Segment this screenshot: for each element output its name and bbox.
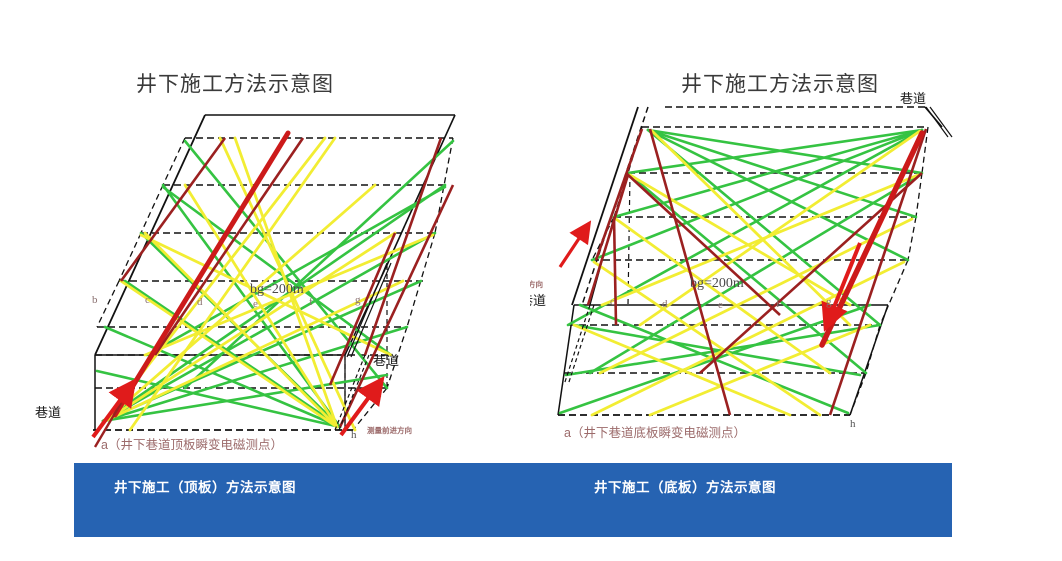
point-label-d-roof: d [197, 296, 203, 308]
point-label-e-roof: e [253, 298, 258, 310]
point-label-c-floor: c [610, 296, 615, 308]
direction-label-floor: 测量前进方向 [530, 279, 543, 289]
tunnel-label-right-roof: 巷道 [373, 353, 399, 368]
tunnel-label-left-floor: 巷道 [530, 293, 546, 308]
diagram-floor: 井下施工方法示意图 [530, 55, 1030, 450]
point-label-h-floor: h [850, 418, 856, 430]
point-label-e-floor: e [718, 299, 723, 311]
slide-canvas: 井下施工方法示意图 [0, 0, 1062, 561]
caption-bar: 井下施工（顶板）方法示意图 井下施工（底板）方法示意图 [74, 463, 952, 537]
point-label-f-floor: f [776, 298, 780, 310]
direction-label-roof: 测量前进方向 [367, 425, 412, 435]
arrow-left-floor [560, 231, 584, 267]
tunnel-label-top-floor: 巷道 [900, 91, 926, 106]
bottom-caption-floor: a（井下巷道底板瞬变电磁测点） [564, 425, 746, 440]
point-label-h-roof: h [351, 429, 357, 441]
caption-roof-label: 井下施工（顶板）方法示意图 [114, 476, 296, 496]
diagram-title: 井下施工方法示意图 [681, 72, 879, 96]
tunnel-label-left-roof: 巷道 [35, 405, 61, 420]
point-label-g-roof: g [355, 294, 361, 306]
point-label-b-roof: b [92, 294, 98, 306]
point-label-d-floor: d [662, 298, 668, 310]
diagram-roof: 井下施工方法示意图 [35, 55, 535, 450]
point-label-f-roof: f [309, 296, 313, 308]
bg-label-roof: bg=200m [250, 282, 304, 297]
diagram-title: 井下施工方法示意图 [136, 72, 334, 96]
point-label-g-floor: g [826, 296, 832, 308]
point-label-c-roof: c [145, 294, 150, 306]
bg-label-floor: bg=200m [690, 276, 744, 291]
bottom-caption-roof: a（井下巷道顶板瞬变电磁测点） [101, 437, 283, 450]
caption-floor-label: 井下施工（底板）方法示意图 [594, 476, 776, 496]
